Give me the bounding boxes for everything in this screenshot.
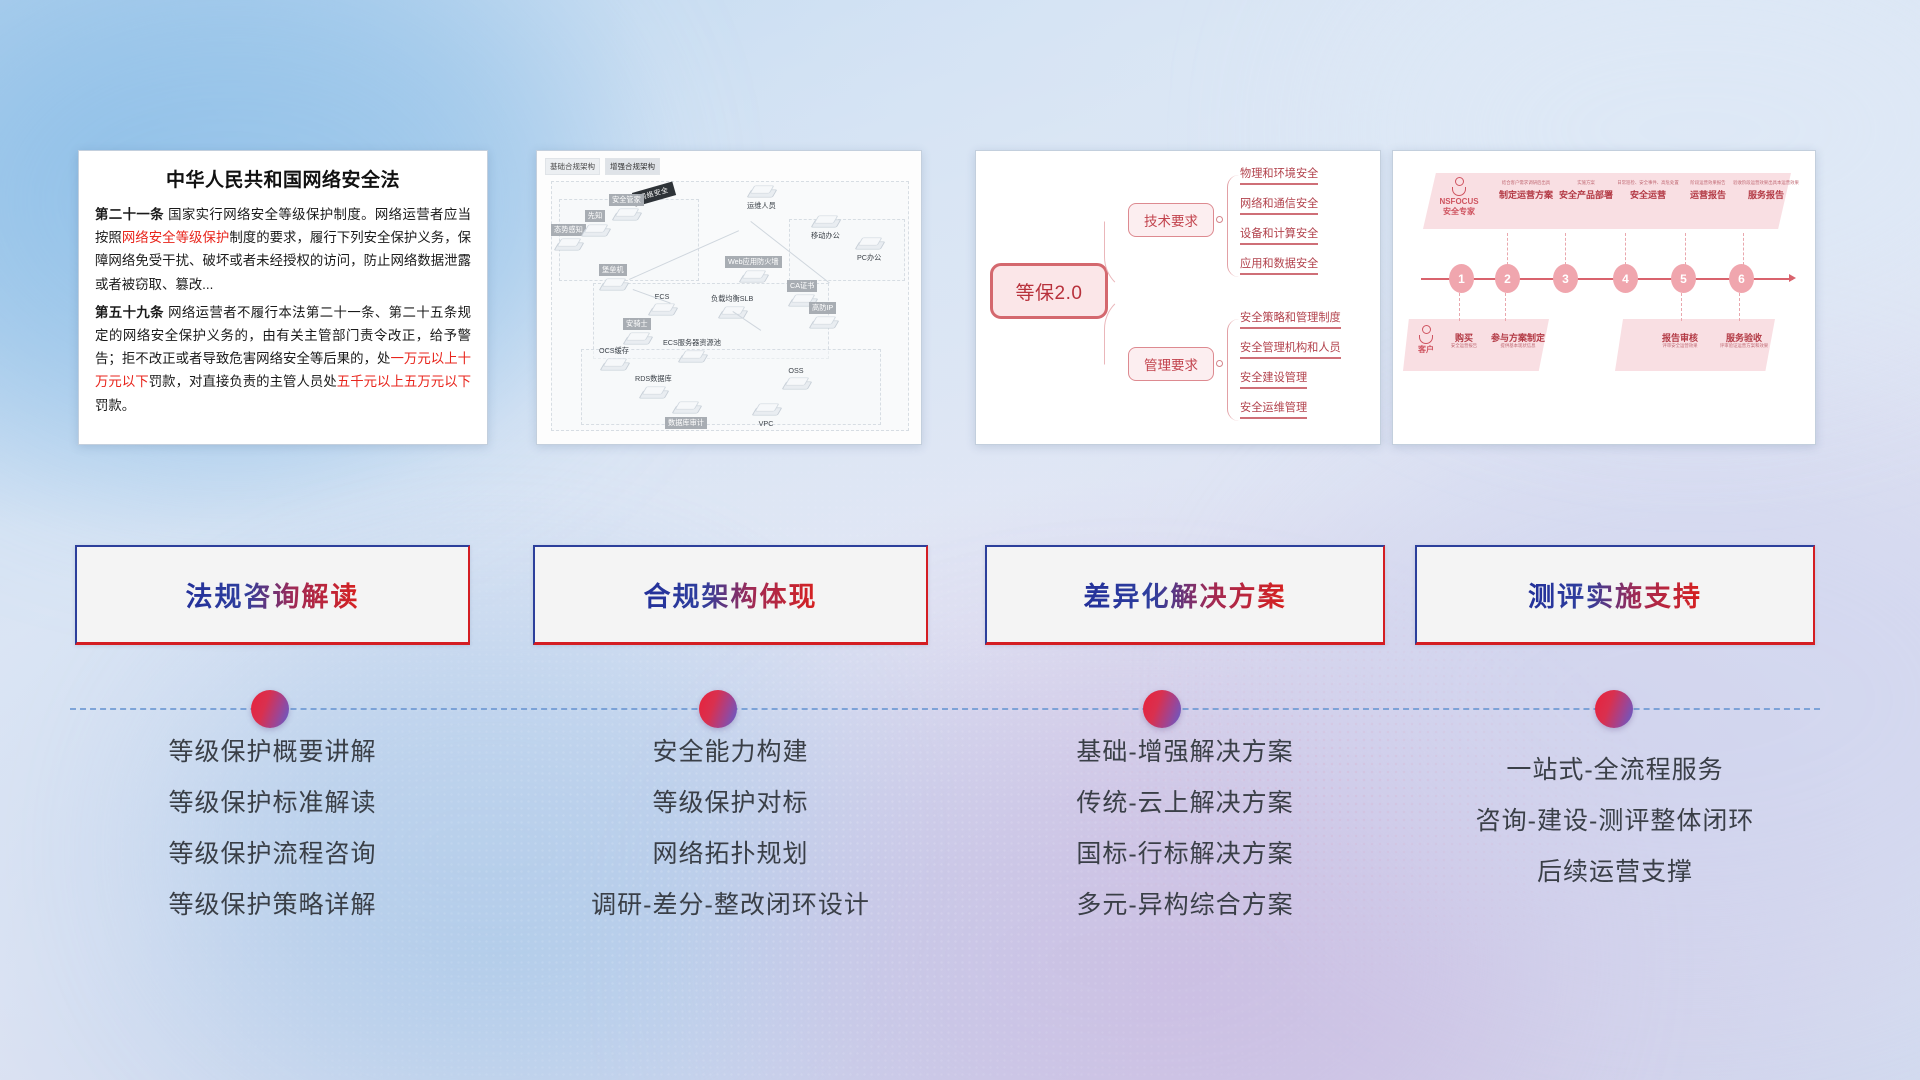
arch-node-label: OCS缓存	[597, 346, 631, 356]
mindmap-connector-technical-2	[1227, 219, 1239, 277]
card-nsfocus-timeline[interactable]: NSFOCUS 安全专家 结合客户需求调研后出具 制定运营方案 实施方案 安全产…	[1392, 150, 1816, 445]
nsfocus-step-marker: 3	[1553, 264, 1578, 293]
image-card-row: 中华人民共和国网络安全法 第二十一条 国家实行网络安全等级保护制度。网络运营者应…	[0, 150, 1920, 450]
person-head-icon	[1422, 325, 1431, 334]
step-sub-label: 评审安全运营效果	[1647, 344, 1713, 349]
server-icon	[679, 348, 705, 365]
header-box-regulation-consulting[interactable]: 法规咨询解读	[75, 545, 470, 645]
arch-node-label: 负载均衡SLB	[709, 294, 755, 304]
mindmap-connector-management-2	[1227, 363, 1239, 421]
mindmap-connector-management	[1227, 319, 1239, 365]
database-icon	[640, 384, 666, 401]
header-label: 法规咨询解读	[186, 575, 360, 614]
arch-node-waf: Web应用防火墙	[725, 255, 782, 285]
nsfocus-step-marker: 5	[1671, 264, 1696, 293]
mindmap-leaf: 安全建设管理	[1240, 369, 1307, 389]
bullet-item: 咨询-建设-测评整体闭环	[1415, 809, 1815, 834]
mobile-icon	[812, 213, 838, 230]
arch-node-label: 安骑士	[623, 318, 651, 330]
nsfocus-connector	[1505, 293, 1506, 321]
arch-node-ocs-cache: OCS缓存	[597, 345, 631, 373]
architecture-diagram: 基础合规架构 增强合规架构 网络安全 态势感知 先知 安	[537, 151, 921, 444]
header-label: 差异化解决方案	[1084, 575, 1287, 614]
step-sub-label: 提供基本现状信息	[1485, 344, 1551, 349]
mindmap-leaf: 安全策略和管理制度	[1240, 309, 1341, 329]
article-21-label: 第二十一条	[95, 207, 164, 222]
article-59-text-b: 罚款，对直接负责的主管人员处	[149, 374, 337, 389]
audit-icon	[673, 399, 699, 416]
person-head-icon	[1455, 177, 1464, 186]
server-icon	[810, 314, 836, 331]
timeline-dashed-line	[70, 708, 1820, 710]
bullet-item: 多元-异构综合方案	[985, 893, 1385, 918]
step-sub-label: 安全运营报告	[1439, 344, 1489, 349]
nsfocus-axis-arrow-icon	[1789, 274, 1796, 282]
server-icon	[613, 206, 639, 223]
header-box-row: 法规咨询解读 合规架构体现 差异化解决方案 测评实施支持	[0, 545, 1920, 645]
storage-icon	[783, 375, 809, 392]
arch-node-security-butler: 安全管家	[609, 193, 644, 223]
mindmap-leaf: 安全运维管理	[1240, 399, 1307, 419]
slide-stage: 中华人民共和国网络安全法 第二十一条 国家实行网络安全等级保护制度。网络运营者应…	[0, 0, 1920, 1080]
timeline-dot-1[interactable]	[251, 690, 289, 728]
mindmap-leaf: 网络和通信安全	[1240, 195, 1318, 215]
arch-node-label: ECS服务器资源池	[661, 338, 723, 348]
server-icon	[555, 236, 581, 253]
law-article-21: 第二十一条 国家实行网络安全等级保护制度。网络运营者应当按照网络安全等级保护制度…	[95, 203, 471, 296]
arch-node-slb: 负载均衡SLB	[709, 293, 755, 321]
nsfocus-step-marker: 1	[1449, 264, 1474, 293]
bullet-item: 等级保护对标	[533, 791, 928, 816]
bullet-item: 网络拓扑规划	[533, 842, 928, 867]
nsfocus-connector	[1685, 233, 1686, 265]
arch-node-label: OSS	[786, 366, 805, 375]
nsfocus-customer-avatar: 客户	[1409, 325, 1443, 354]
nsfocus-step-marker: 2	[1495, 264, 1520, 293]
bullet-item: 等级保护策略详解	[75, 893, 470, 918]
bullet-item: 一站式-全流程服务	[1415, 758, 1815, 783]
bullet-column-compliance-architecture: 安全能力构建 等级保护对标 网络拓扑规划 调研-差分-整改闭环设计	[533, 740, 928, 944]
arch-node-ops-staff: 运维人员	[745, 183, 778, 211]
arch-node-db-audit: 数据库审计	[665, 399, 707, 429]
user-icon	[748, 183, 774, 200]
bullet-column-regulation-consulting: 等级保护概要讲解 等级保护标准解读 等级保护流程咨询 等级保护策略详解	[75, 740, 470, 944]
bullet-item: 等级保护概要讲解	[75, 740, 470, 765]
nsfocus-customer-role: 客户	[1409, 345, 1443, 354]
nsfocus-top-step: 验收阶段运营效果出具本运营效果 服务报告	[1729, 181, 1803, 201]
arch-node-label: RDS数据库	[633, 374, 674, 384]
arch-node-label: VPC	[757, 419, 776, 428]
header-box-compliance-architecture[interactable]: 合规架构体现	[533, 545, 928, 645]
tab-basic-architecture[interactable]: 基础合规架构	[545, 158, 600, 175]
header-label: 合规架构体现	[644, 575, 818, 614]
mindmap-leaf: 应用和数据安全	[1240, 255, 1318, 275]
bullet-column-differentiated-solution: 基础-增强解决方案 传统-云上解决方案 国标-行标解决方案 多元-异构综合方案	[985, 740, 1385, 944]
arch-node-label: Web应用防火墙	[725, 256, 782, 268]
step-sub-label: 验收阶段运营效果出具本运营效果	[1729, 181, 1803, 186]
nsfocus-bottom-step: 服务验收 评审验证运营方案和效果	[1709, 329, 1779, 349]
mindmap: 等保2.0 技术要求 管理要求 物理和环境安全 网络和通信安全 设备和计算安全 …	[976, 151, 1380, 444]
arch-node-ecs-pool: ECS服务器资源池	[661, 337, 723, 365]
arch-node-aegis: 安骑士	[623, 317, 651, 347]
arch-node-label: 高防IP	[809, 302, 836, 314]
bullet-item: 调研-差分-整改闭环设计	[533, 893, 928, 918]
server-icon	[582, 222, 608, 239]
arch-node-xianzhi: 先知	[582, 209, 608, 239]
arch-node-label: 安全管家	[609, 194, 644, 206]
arch-node-ecs: ECS	[649, 291, 675, 318]
bullet-item: 安全能力构建	[533, 740, 928, 765]
bullet-item: 等级保护标准解读	[75, 791, 470, 816]
arch-node-situational-awareness: 态势感知	[551, 223, 586, 253]
nsfocus-step-marker: 4	[1613, 264, 1638, 293]
nsfocus-connector	[1507, 233, 1508, 265]
bullet-column-row: 等级保护概要讲解 等级保护标准解读 等级保护流程咨询 等级保护策略详解 安全能力…	[0, 740, 1920, 970]
arch-node-label: 运维人员	[745, 201, 778, 211]
network-icon	[753, 401, 779, 418]
arch-node-bastion-host: 堡垒机	[599, 263, 627, 293]
architecture-tab-group[interactable]: 基础合规架构 增强合规架构	[545, 158, 660, 175]
nsfocus-expert-avatar: NSFOCUS 安全专家	[1431, 177, 1487, 216]
bullet-item: 等级保护流程咨询	[75, 842, 470, 867]
mindmap-branch-technical: 技术要求	[1128, 203, 1214, 237]
card-cloud-architecture[interactable]: 基础合规架构 增强合规架构 网络安全 态势感知 先知 安	[536, 150, 922, 445]
bullet-item: 基础-增强解决方案	[985, 740, 1385, 765]
article-59-highlight-2: 五千元以上五万元以下	[337, 374, 471, 389]
arch-node-pc-office: PC办公	[855, 235, 883, 263]
article-21-highlight: 网络安全等级保护	[122, 230, 229, 245]
nsfocus-bottom-step: 购买 安全运营报告	[1439, 329, 1489, 349]
arch-node-rds: RDS数据库	[633, 373, 674, 401]
server-icon	[600, 276, 626, 293]
nsfocus-connector	[1625, 233, 1626, 265]
nsfocus-bottom-step: 参与方案制定 提供基本现状信息	[1485, 329, 1551, 349]
server-icon	[740, 268, 766, 285]
article-59-text-c: 罚款。	[95, 398, 135, 413]
arch-node-label: 堡垒机	[599, 264, 627, 276]
arch-node-label: 先知	[585, 210, 605, 222]
nsfocus-expert-role: 安全专家	[1431, 207, 1487, 216]
bullet-column-assessment-support: 一站式-全流程服务 咨询-建设-测评整体闭环 后续运营支撑	[1415, 740, 1815, 911]
server-icon	[601, 356, 627, 373]
arch-node-label: PC办公	[855, 253, 883, 263]
arch-node-label: CA证书	[787, 280, 817, 292]
card-dengbao-mindmap[interactable]: 等保2.0 技术要求 管理要求 物理和环境安全 网络和通信安全 设备和计算安全 …	[975, 150, 1381, 445]
header-label: 测评实施支持	[1528, 575, 1702, 614]
person-body-icon	[1419, 335, 1433, 344]
arch-node-vpc: VPC	[753, 401, 779, 428]
law-document: 中华人民共和国网络安全法 第二十一条 国家实行网络安全等级保护制度。网络运营者应…	[79, 151, 487, 425]
mindmap-collapse-dot-technical[interactable]	[1216, 216, 1223, 223]
nsfocus-connector	[1739, 293, 1740, 321]
arch-node-label: 数据库审计	[665, 417, 707, 429]
timeline-dot-2[interactable]	[699, 690, 737, 728]
arch-node-mobile-office: 移动办公	[809, 213, 842, 241]
mindmap-branch-management: 管理要求	[1128, 347, 1214, 381]
mindmap-leaf: 安全管理机构和人员	[1240, 339, 1341, 359]
nsfocus-step-marker: 6	[1729, 264, 1754, 293]
architecture-zone-right	[789, 219, 905, 281]
nsfocus-connector	[1565, 233, 1566, 265]
law-article-59: 第五十九条 网络运营者不履行本法第二十一条、第二十五条规定的网络安全保护义务的，…	[95, 301, 471, 417]
mindmap-root-node: 等保2.0	[990, 263, 1108, 319]
header-box-assessment-support[interactable]: 测评实施支持	[1415, 545, 1815, 645]
nsfocus-bottom-step: 报告审核 评审安全运营效果	[1647, 329, 1713, 349]
article-59-label: 第五十九条	[95, 305, 164, 320]
bullet-item: 后续运营支撑	[1415, 860, 1815, 885]
header-box-differentiated-solution[interactable]: 差异化解决方案	[985, 545, 1385, 645]
nsfocus-connector	[1459, 293, 1460, 321]
arch-node-anti-ddos-ip: 高防IP	[809, 301, 836, 331]
bullet-item: 国标-行标解决方案	[985, 842, 1385, 867]
person-body-icon	[1452, 187, 1466, 196]
server-icon	[649, 301, 675, 318]
timeline-dot-3[interactable]	[1143, 690, 1181, 728]
nsfocus-connector	[1681, 293, 1682, 321]
bullet-item: 传统-云上解决方案	[985, 791, 1385, 816]
nsfocus-brand-label: NSFOCUS	[1431, 197, 1487, 206]
desktop-icon	[856, 235, 882, 252]
nsfocus-process-diagram: NSFOCUS 安全专家 结合客户需求调研后出具 制定运营方案 实施方案 安全产…	[1393, 151, 1815, 444]
mindmap-leaf: 设备和计算安全	[1240, 225, 1318, 245]
tab-enhanced-architecture[interactable]: 增强合规架构	[605, 158, 660, 175]
card-cybersecurity-law[interactable]: 中华人民共和国网络安全法 第二十一条 国家实行网络安全等级保护制度。网络运营者应…	[78, 150, 488, 445]
mindmap-connector-technical	[1227, 175, 1239, 221]
nsfocus-connector	[1743, 233, 1744, 265]
timeline-dot-4[interactable]	[1595, 690, 1633, 728]
step-sub-label: 评审验证运营方案和效果	[1709, 344, 1779, 349]
mindmap-collapse-dot-management[interactable]	[1216, 360, 1223, 367]
arch-node-oss: OSS	[783, 365, 809, 392]
step-main-label: 服务报告	[1729, 188, 1803, 201]
mindmap-leaf: 物理和环境安全	[1240, 165, 1318, 185]
arch-node-label: 移动办公	[809, 231, 842, 241]
law-title: 中华人民共和国网络安全法	[95, 165, 471, 192]
timeline	[0, 690, 1920, 730]
